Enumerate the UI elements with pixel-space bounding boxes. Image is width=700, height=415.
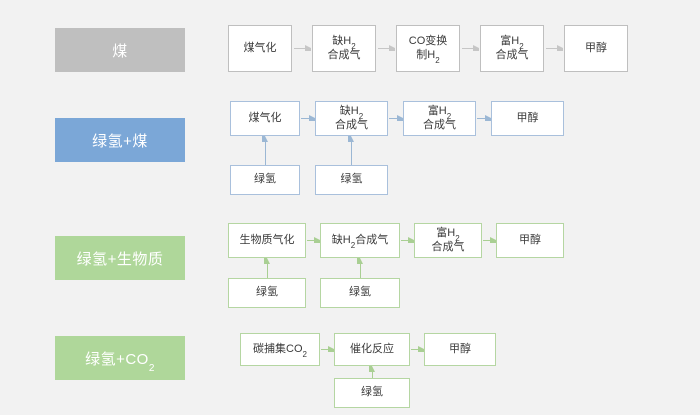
arrow-r2-3 [477,118,490,119]
box-green-hydrogen-feed-2-r2[interactable]: 绿氢 [315,165,388,195]
box-line: 甲醇 [519,234,541,248]
subscript: 2 [351,42,355,51]
subscript: 2 [351,241,355,250]
subscript: 2 [149,363,155,374]
subscript: 2 [303,350,307,359]
box-line: 合成气 [423,119,456,133]
arrow-r4-1 [321,349,333,350]
arrow-r3-1 [307,240,319,241]
box-line: 缺H2合成气 [332,234,388,248]
box-line: 碳捕集CO2 [253,343,307,357]
box-carbon-capture-co2-r4[interactable]: 碳捕集CO2 [240,333,320,366]
row-label-green-hydrogen-plus-co2-text: 绿氢+CO2 [85,348,155,369]
box-green-hydrogen-feed-2-r3[interactable]: 绿氢 [320,278,400,308]
row-label-green-hydrogen-plus-biomass: 绿氢+生物质 [55,236,185,280]
box-line: 富H2 [423,105,456,119]
box-line: 绿氢 [349,286,371,300]
arrow-feed-r3-2 [360,264,361,278]
row-label-green-hydrogen-plus-co2: 绿氢+CO2 [55,336,185,380]
box-line: 富H2 [496,35,529,49]
box-methanol-r4[interactable]: 甲醇 [424,333,496,366]
box-h2-rich-syngas-r2[interactable]: 富H2 合成气 [403,101,476,136]
arrow-r3-2 [401,240,413,241]
box-line: 绿氢 [254,173,276,187]
arrow-feed-r2-1 [265,142,266,165]
box-line: 煤气化 [249,112,282,126]
subscript: 2 [447,112,451,121]
box-line: 合成气 [335,119,368,133]
box-line: 甲醇 [585,42,607,56]
arrow-r1-1 [294,48,310,49]
arrow-r2-2 [389,118,402,119]
box-catalytic-reaction-r4[interactable]: 催化反应 [334,333,410,366]
box-line: 绿氢 [256,286,278,300]
box-co-shift-h2-r1[interactable]: CO变换 制H2 [396,25,460,72]
box-line: 制H2 [409,49,448,63]
box-line: CO变换 [409,35,448,49]
box-line: 绿氢 [361,386,383,400]
arrow-feed-r4-1 [372,372,373,378]
box-methanol-r2[interactable]: 甲醇 [491,101,564,136]
arrow-r4-2 [411,349,423,350]
box-biomass-gasification-r3[interactable]: 生物质气化 [228,223,306,258]
box-h2-lean-syngas-r2[interactable]: 缺H2 合成气 [315,101,388,136]
arrow-r1-2 [378,48,394,49]
row-label-coal-text: 煤 [112,40,128,61]
row-label-green-hydrogen-plus-biomass-text: 绿氢+生物质 [77,248,164,269]
box-h2-rich-syngas-r3[interactable]: 富H2 合成气 [414,223,482,258]
subscript: 2 [519,42,523,51]
box-green-hydrogen-feed-1-r3[interactable]: 绿氢 [228,278,306,308]
arrow-feed-r2-2 [351,142,352,165]
subscript: 2 [435,56,439,65]
box-line: 缺H2 [335,105,368,119]
box-line: 富H2 [432,227,465,241]
box-line: 生物质气化 [240,234,295,248]
row-label-coal: 煤 [55,28,185,72]
box-green-hydrogen-feed-1-r4[interactable]: 绿氢 [334,378,410,408]
arrow-r2-1 [301,118,314,119]
box-line: 催化反应 [350,343,394,357]
box-methanol-r1[interactable]: 甲醇 [564,25,628,72]
box-line: 绿氢 [341,173,363,187]
box-line: 甲醇 [449,343,471,357]
box-line: 甲醇 [517,112,539,126]
arrow-feed-r3-1 [267,264,268,278]
box-line: 缺H2 [328,35,361,49]
box-line: 煤气化 [244,42,277,56]
arrow-r1-3 [462,48,478,49]
arrow-r3-3 [483,240,495,241]
box-h2-lean-syngas-r3[interactable]: 缺H2合成气 [320,223,400,258]
box-h2-lean-syngas-r1[interactable]: 缺H2 合成气 [312,25,376,72]
box-methanol-r3[interactable]: 甲醇 [496,223,564,258]
box-h2-rich-syngas-r1[interactable]: 富H2 合成气 [480,25,544,72]
row-label-green-hydrogen-plus-coal: 绿氢+煤 [55,118,185,162]
row-label-green-hydrogen-plus-coal-text: 绿氢+煤 [92,130,148,151]
box-coal-gasification-r1[interactable]: 煤气化 [228,25,292,72]
subscript: 2 [455,234,459,243]
subscript: 2 [359,112,363,121]
box-coal-gasification-r2[interactable]: 煤气化 [230,101,300,136]
arrow-r1-4 [546,48,562,49]
box-green-hydrogen-feed-1-r2[interactable]: 绿氢 [230,165,300,195]
diagram-canvas: 煤 煤气化 缺H2 合成气 CO变换 制H2 富H2 合成气 甲醇 绿氢+煤 煤… [0,0,700,415]
